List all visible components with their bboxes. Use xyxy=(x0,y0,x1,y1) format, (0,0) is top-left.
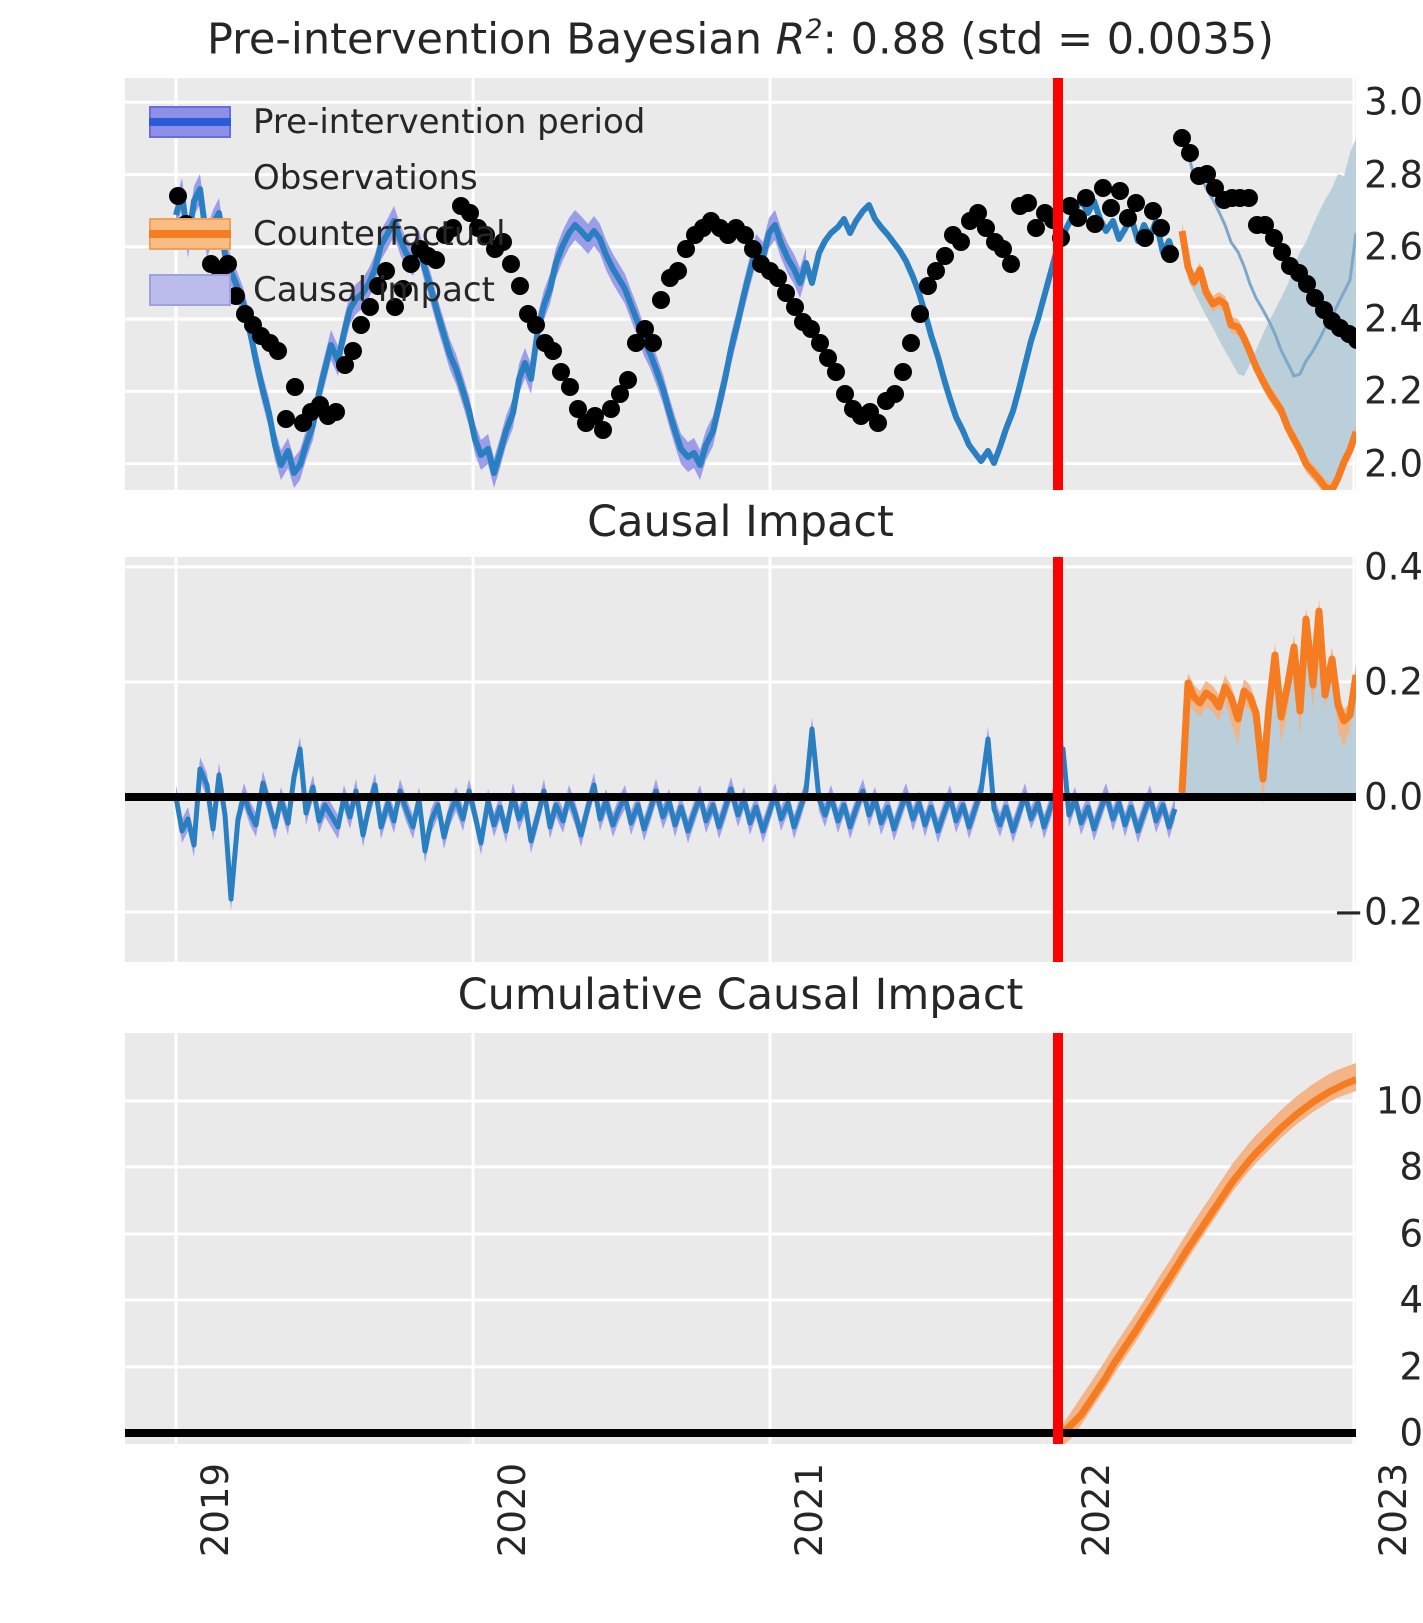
legend-swatch-observations xyxy=(149,162,231,194)
ytick-2.6: 2.6 xyxy=(1313,226,1423,269)
legend-swatch-causal-impact xyxy=(149,274,231,306)
ytick--0.2: −0.2 xyxy=(1313,891,1423,934)
page-title: Pre-intervention Bayesian R2: 0.88 (std … xyxy=(125,14,1356,64)
panel-cumulative-vgridlines xyxy=(176,1033,1354,1444)
ytick-2: 2 xyxy=(1313,1346,1423,1389)
ytick-2.0: 2.0 xyxy=(1313,443,1423,486)
ytick-8: 8 xyxy=(1313,1146,1423,1189)
xtick-2019: 2019 xyxy=(194,1463,237,1557)
legend-swatch-counterfactual xyxy=(149,218,231,250)
intervention-line-panel2 xyxy=(1053,557,1063,962)
causal-impact-figure: Pre-intervention Bayesian R2: 0.88 (std … xyxy=(0,0,1423,1623)
panel-causal-impact-title: Causal Impact xyxy=(125,497,1356,547)
xtick-2021: 2021 xyxy=(788,1463,831,1557)
pre-impact-band xyxy=(176,717,1175,911)
panel-cumulative-title: Cumulative Causal Impact xyxy=(125,970,1356,1020)
cumulative-line xyxy=(1057,1079,1356,1439)
panel-observed-axes: Pre-intervention period Observations Cou… xyxy=(125,78,1356,490)
legend-item-pre-intervention[interactable]: Pre-intervention period xyxy=(149,102,645,142)
title-r-symbol: R xyxy=(776,14,806,64)
intervention-line-panel1 xyxy=(1053,78,1063,490)
xtick-2023: 2023 xyxy=(1372,1463,1415,1557)
legend-label-counterfactual: Counterfactual xyxy=(253,214,506,254)
panel-causal-impact-axes xyxy=(125,557,1356,962)
legend-item-causal-impact[interactable]: Causal impact xyxy=(149,270,495,310)
ytick-2.4: 2.4 xyxy=(1313,298,1423,341)
ytick-3.0: 3.0 xyxy=(1313,81,1423,124)
panel-causal-impact-vgridlines xyxy=(176,557,1354,962)
zero-line-panel3 xyxy=(125,1429,1356,1437)
panel-causal-impact-svg xyxy=(125,557,1356,962)
intervention-line-panel3 xyxy=(1053,1033,1063,1444)
legend-label-pre-intervention: Pre-intervention period xyxy=(253,102,645,142)
legend-item-observations[interactable]: Observations xyxy=(149,158,478,198)
ytick-0.0: 0.0 xyxy=(1313,776,1423,819)
xtick-2022: 2022 xyxy=(1075,1463,1118,1557)
ytick-2.8: 2.8 xyxy=(1313,154,1423,197)
legend-item-counterfactual[interactable]: Counterfactual xyxy=(149,214,506,254)
ytick-4: 4 xyxy=(1313,1279,1423,1322)
panel-causal-impact-gridlines xyxy=(125,567,1356,912)
panel-cumulative-axes xyxy=(125,1033,1356,1444)
ytick-2.2: 2.2 xyxy=(1313,370,1423,413)
ytick-0.2: 0.2 xyxy=(1313,661,1423,704)
title-prefix: Pre-intervention Bayesian xyxy=(207,14,776,64)
legend-label-causal-impact: Causal impact xyxy=(253,270,495,310)
panel-cumulative-svg xyxy=(125,1033,1356,1444)
xtick-2020: 2020 xyxy=(491,1463,534,1557)
title-suffix: : 0.88 (std = 0.0035) xyxy=(823,14,1275,64)
legend-swatch-pre-intervention xyxy=(149,106,231,138)
ytick-10: 10 xyxy=(1313,1080,1423,1123)
ytick-0: 0 xyxy=(1313,1412,1423,1455)
legend: Pre-intervention period Observations Cou… xyxy=(149,102,669,307)
ytick-6: 6 xyxy=(1313,1213,1423,1256)
title-superscript: 2 xyxy=(806,14,823,45)
zero-line-panel2 xyxy=(125,793,1356,801)
legend-label-observations: Observations xyxy=(253,158,478,198)
ytick-0.4: 0.4 xyxy=(1313,546,1423,589)
